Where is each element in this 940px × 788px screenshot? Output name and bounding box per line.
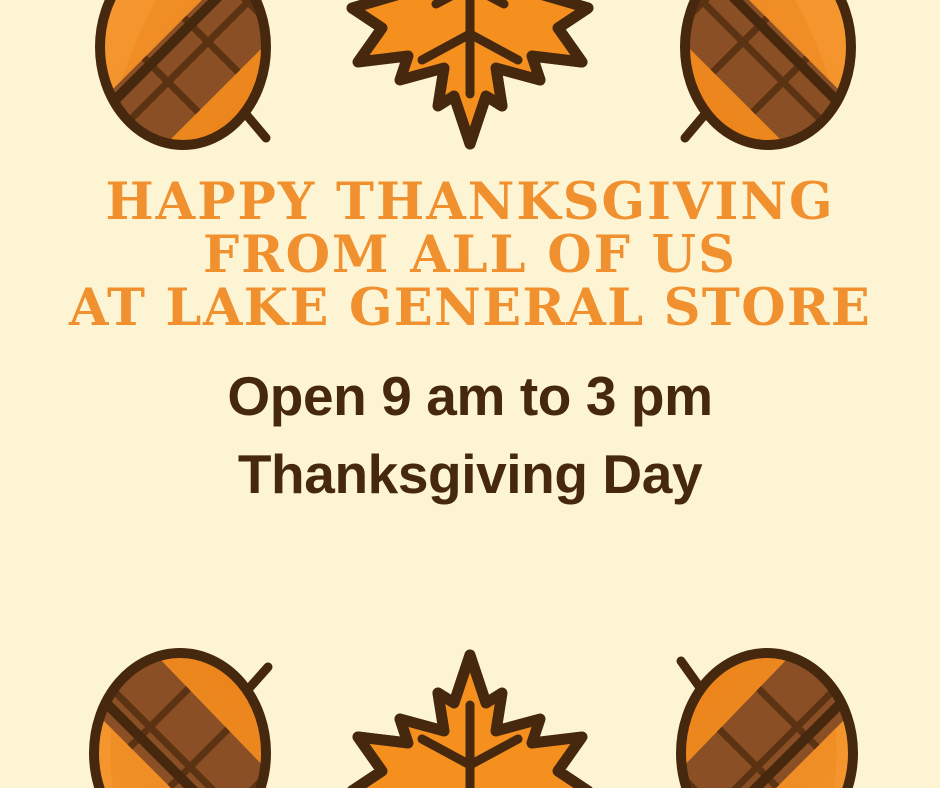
headline-line-2: FROM ALL OF US — [0, 229, 940, 282]
headline-block: HAPPY THANKSGIVING FROM ALL OF US AT LAK… — [0, 176, 940, 335]
headline-line-1: HAPPY THANKSGIVING — [0, 176, 940, 229]
holiday-name-text: Thanksgiving Day — [0, 445, 940, 503]
thanksgiving-poster: HAPPY THANKSGIVING FROM ALL OF US AT LAK… — [0, 0, 940, 788]
store-hours-text: Open 9 am to 3 pm — [0, 367, 940, 425]
poster-text-layer: HAPPY THANKSGIVING FROM ALL OF US AT LAK… — [0, 0, 940, 788]
headline-line-3: AT LAKE GENERAL STORE — [0, 282, 940, 335]
